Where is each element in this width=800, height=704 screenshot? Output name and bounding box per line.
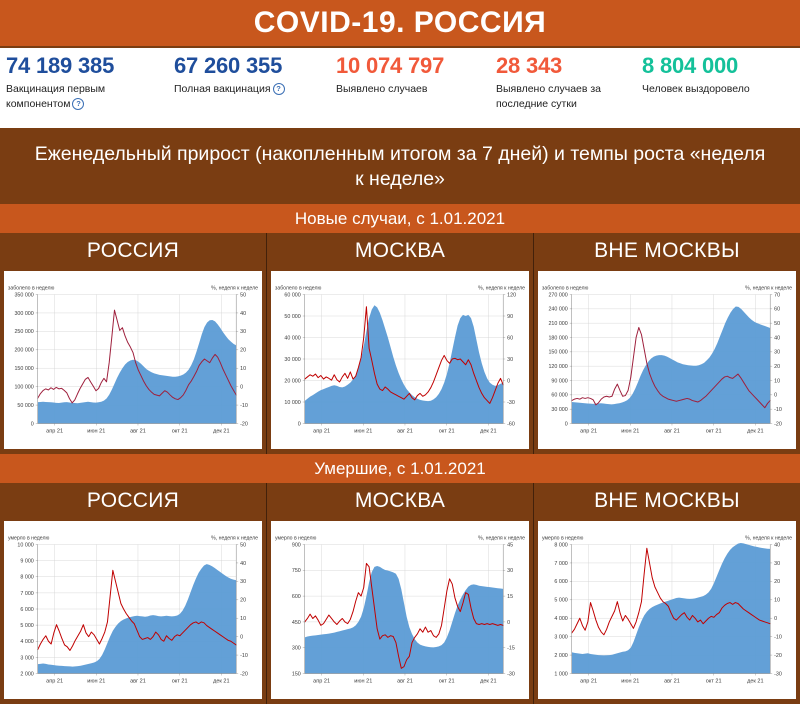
title-banner: COVID-19. РОССИЯ — [0, 0, 800, 46]
svg-text:100 000: 100 000 — [14, 385, 33, 391]
info-icon[interactable]: ? — [273, 83, 285, 95]
svg-text:-20: -20 — [240, 671, 248, 677]
svg-text:0: 0 — [507, 620, 510, 626]
svg-text:750: 750 — [292, 568, 301, 574]
svg-text:%, неделя к неделе: %, неделя к неделе — [478, 286, 525, 292]
svg-text:6 000: 6 000 — [20, 607, 33, 613]
svg-text:-20: -20 — [774, 653, 782, 659]
svg-text:30: 30 — [240, 329, 246, 335]
svg-text:20: 20 — [240, 598, 246, 604]
svg-text:4 000: 4 000 — [554, 616, 567, 622]
svg-text:%, неделя к неделе: %, неделя к неделе — [745, 286, 792, 292]
panel-title: РОССИЯ — [87, 489, 179, 513]
chart-cell: умерло в неделю%, неделя к неделе2 0003 … — [0, 518, 267, 704]
panel-title: МОСКВА — [355, 239, 445, 263]
panel-title: РОССИЯ — [87, 239, 179, 263]
svg-text:4 000: 4 000 — [20, 639, 33, 645]
svg-text:0: 0 — [774, 616, 777, 622]
svg-text:30 000: 30 000 — [551, 407, 567, 413]
stat-label: Выявлено случаев — [336, 82, 490, 96]
svg-text:50 000: 50 000 — [17, 403, 33, 409]
svg-text:-15: -15 — [507, 646, 515, 652]
svg-text:30 000: 30 000 — [284, 357, 300, 363]
svg-text:900: 900 — [292, 542, 301, 548]
stat-value: 8 804 000 — [642, 54, 788, 77]
svg-text:20: 20 — [774, 364, 780, 370]
svg-text:50: 50 — [774, 321, 780, 327]
subtitle-block: Еженедельный прирост (накопленным итогом… — [0, 130, 800, 204]
svg-text:50: 50 — [240, 292, 246, 298]
stat-label: Выявлено случаев за последние сутки — [496, 82, 636, 111]
svg-text:авг 21: авг 21 — [664, 678, 680, 684]
section-bar-deaths: Умершие, с 1.01.2021 — [0, 454, 800, 483]
svg-text:апр 21: апр 21 — [313, 678, 330, 684]
panel-header-moscow: МОСКВА — [267, 233, 534, 268]
svg-text:45: 45 — [507, 542, 513, 548]
stat-card-total-cases: 10 074 797 Выявлено случаев — [336, 54, 496, 97]
svg-text:-30: -30 — [774, 671, 782, 677]
svg-text:-10: -10 — [240, 403, 248, 409]
svg-text:0: 0 — [298, 421, 301, 427]
svg-text:10: 10 — [774, 378, 780, 384]
svg-text:60 000: 60 000 — [284, 292, 300, 298]
svg-text:-10: -10 — [240, 653, 248, 659]
svg-text:20 000: 20 000 — [284, 378, 300, 384]
svg-text:%, неделя к неделе: %, неделя к неделе — [478, 536, 525, 542]
svg-text:авг 21: авг 21 — [130, 678, 146, 684]
svg-text:150 000: 150 000 — [14, 366, 33, 372]
page-title: COVID-19. РОССИЯ — [254, 8, 546, 38]
svg-text:-60: -60 — [507, 421, 515, 427]
svg-text:10: 10 — [240, 616, 246, 622]
charts-row-new-cases: заболело в неделю%, неделя к неделе050 0… — [0, 268, 800, 454]
panel-header-outside-moscow: ВНЕ МОСКВЫ — [534, 483, 800, 518]
svg-text:2 000: 2 000 — [554, 653, 567, 659]
info-icon[interactable]: ? — [72, 98, 84, 110]
svg-text:заболело в неделю: заболело в неделю — [8, 286, 54, 292]
svg-text:апр 21: апр 21 — [46, 678, 63, 684]
svg-text:10 000: 10 000 — [284, 400, 300, 406]
section-label: Новые случаи, с 1.01.2021 — [295, 210, 505, 227]
svg-text:июн 21: июн 21 — [354, 678, 372, 684]
svg-text:-30: -30 — [507, 671, 515, 677]
svg-text:8 000: 8 000 — [554, 542, 567, 548]
svg-text:60: 60 — [507, 335, 513, 341]
svg-text:авг 21: авг 21 — [397, 428, 413, 434]
chart-cell: умерло в неделю%, неделя к неделе1 0002 … — [534, 518, 800, 704]
svg-text:окт 21: окт 21 — [706, 428, 722, 434]
stats-strip: 74 189 385 Вакцинация первым компонентом… — [0, 46, 800, 130]
svg-text:9 000: 9 000 — [20, 559, 33, 565]
panel-title: ВНЕ МОСКВЫ — [594, 489, 740, 513]
svg-text:350 000: 350 000 — [14, 292, 33, 298]
stat-label: Полная вакцинация? — [174, 82, 330, 96]
svg-text:апр 21: апр 21 — [580, 428, 597, 434]
charts-row-deaths: умерло в неделю%, неделя к неделе2 0003 … — [0, 518, 800, 704]
svg-text:умерло в неделю: умерло в неделю — [275, 536, 316, 542]
svg-text:апр 21: апр 21 — [313, 428, 330, 434]
svg-text:2 000: 2 000 — [20, 671, 33, 677]
svg-text:50: 50 — [240, 542, 246, 548]
svg-text:авг 21: авг 21 — [397, 678, 413, 684]
svg-text:120: 120 — [507, 292, 516, 298]
chart-cell: заболело в неделю%, неделя к неделе030 0… — [534, 268, 800, 454]
chart-cases-moscow: заболело в неделю%, неделя к неделе010 0… — [271, 271, 529, 449]
stat-label-text: Вакцинация первым компонентом — [6, 83, 105, 109]
stat-label: Человек выздоровело — [642, 82, 788, 96]
svg-text:заболело в неделю: заболело в неделю — [275, 286, 321, 292]
svg-text:0: 0 — [507, 378, 510, 384]
svg-text:150 000: 150 000 — [548, 350, 567, 356]
stat-card-recovered: 8 804 000 Человек выздоровело — [642, 54, 794, 97]
svg-text:20: 20 — [240, 348, 246, 354]
svg-text:-20: -20 — [240, 421, 248, 427]
svg-text:дек 21: дек 21 — [747, 428, 763, 434]
stat-value: 67 260 355 — [174, 54, 330, 77]
svg-text:20: 20 — [774, 579, 780, 585]
svg-text:-20: -20 — [774, 421, 782, 427]
svg-text:200 000: 200 000 — [14, 348, 33, 354]
svg-text:150: 150 — [292, 671, 301, 677]
stat-value: 74 189 385 — [6, 54, 168, 77]
stat-value: 10 074 797 — [336, 54, 490, 77]
panel-header-moscow: МОСКВА — [267, 483, 534, 518]
svg-text:10: 10 — [240, 366, 246, 372]
svg-text:июн 21: июн 21 — [621, 428, 639, 434]
svg-text:90: 90 — [507, 314, 513, 320]
svg-text:7 000: 7 000 — [554, 561, 567, 567]
svg-text:50 000: 50 000 — [284, 314, 300, 320]
stat-label-text: Полная вакцинация — [174, 83, 271, 95]
svg-text:дек 21: дек 21 — [213, 428, 229, 434]
svg-text:40 000: 40 000 — [284, 335, 300, 341]
stat-label: Вакцинация первым компонентом? — [6, 82, 168, 111]
svg-text:180 000: 180 000 — [548, 335, 567, 341]
svg-text:40: 40 — [774, 335, 780, 341]
svg-text:апр 21: апр 21 — [46, 428, 63, 434]
svg-text:15: 15 — [507, 594, 513, 600]
svg-text:10: 10 — [774, 598, 780, 604]
svg-text:240 000: 240 000 — [548, 307, 567, 313]
svg-text:умерло в неделю: умерло в неделю — [8, 536, 49, 542]
svg-text:заболело в неделю: заболело в неделю — [542, 286, 588, 292]
svg-text:дек 21: дек 21 — [213, 678, 229, 684]
panel-title: МОСКВА — [355, 489, 445, 513]
svg-text:60 000: 60 000 — [551, 393, 567, 399]
svg-text:июн 21: июн 21 — [87, 678, 105, 684]
stat-card-vaccinated-first: 74 189 385 Вакцинация первым компонентом… — [6, 54, 174, 111]
svg-text:120 000: 120 000 — [548, 364, 567, 370]
svg-text:окт 21: окт 21 — [172, 678, 188, 684]
svg-text:окт 21: окт 21 — [439, 428, 455, 434]
panel-header-row-deaths: РОССИЯ МОСКВА ВНЕ МОСКВЫ — [0, 483, 800, 518]
svg-text:-10: -10 — [774, 635, 782, 641]
svg-text:30: 30 — [774, 561, 780, 567]
chart-deaths-russia: умерло в неделю%, неделя к неделе2 0003 … — [4, 521, 262, 699]
stat-value: 28 343 — [496, 54, 636, 77]
panel-header-row-new-cases: РОССИЯ МОСКВА ВНЕ МОСКВЫ — [0, 233, 800, 268]
svg-text:умерло в неделю: умерло в неделю — [542, 536, 583, 542]
panel-header-outside-moscow: ВНЕ МОСКВЫ — [534, 233, 800, 268]
svg-text:%, неделя к неделе: %, неделя к неделе — [745, 536, 792, 542]
svg-text:июн 21: июн 21 — [354, 428, 372, 434]
svg-text:июн 21: июн 21 — [87, 428, 105, 434]
svg-text:0: 0 — [240, 385, 243, 391]
svg-text:210 000: 210 000 — [548, 321, 567, 327]
svg-text:-10: -10 — [774, 407, 782, 413]
svg-text:40: 40 — [240, 561, 246, 567]
svg-text:апр 21: апр 21 — [580, 678, 597, 684]
svg-text:10 000: 10 000 — [17, 542, 33, 548]
svg-text:5 000: 5 000 — [20, 623, 33, 629]
svg-text:0: 0 — [774, 393, 777, 399]
svg-text:дек 21: дек 21 — [480, 428, 496, 434]
stat-card-cases-last-day: 28 343 Выявлено случаев за последние сут… — [496, 54, 642, 111]
panel-title: ВНЕ МОСКВЫ — [594, 239, 740, 263]
svg-text:40: 40 — [774, 542, 780, 548]
svg-text:300 000: 300 000 — [14, 311, 33, 317]
svg-text:авг 21: авг 21 — [130, 428, 146, 434]
svg-text:5 000: 5 000 — [554, 598, 567, 604]
svg-text:3 000: 3 000 — [554, 635, 567, 641]
svg-text:дек 21: дек 21 — [747, 678, 763, 684]
svg-text:60: 60 — [774, 307, 780, 313]
svg-text:-30: -30 — [507, 400, 515, 406]
chart-deaths-moscow: умерло в неделю%, неделя к неделе1503004… — [271, 521, 529, 699]
svg-text:30: 30 — [507, 568, 513, 574]
chart-cell: заболело в неделю%, неделя к неделе010 0… — [267, 268, 534, 454]
stat-card-fully-vaccinated: 67 260 355 Полная вакцинация? — [174, 54, 336, 97]
covid-dashboard: COVID-19. РОССИЯ 74 189 385 Вакцинация п… — [0, 0, 800, 704]
svg-text:300: 300 — [292, 646, 301, 652]
chart-cases-russia: заболело в неделю%, неделя к неделе050 0… — [4, 271, 262, 449]
subtitle-text: Еженедельный прирост (накопленным итогом… — [34, 142, 766, 192]
svg-text:30: 30 — [240, 579, 246, 585]
chart-deaths-outside-moscow: умерло в неделю%, неделя к неделе1 0002 … — [538, 521, 796, 699]
panel-header-russia: РОССИЯ — [0, 483, 267, 518]
svg-text:40: 40 — [240, 311, 246, 317]
svg-text:6 000: 6 000 — [554, 579, 567, 585]
svg-text:3 000: 3 000 — [20, 655, 33, 661]
svg-text:90 000: 90 000 — [551, 378, 567, 384]
svg-text:30: 30 — [774, 350, 780, 356]
svg-text:270 000: 270 000 — [548, 292, 567, 298]
svg-text:30: 30 — [507, 357, 513, 363]
svg-text:450: 450 — [292, 620, 301, 626]
svg-text:0: 0 — [240, 635, 243, 641]
svg-text:окт 21: окт 21 — [706, 678, 722, 684]
svg-text:окт 21: окт 21 — [439, 678, 455, 684]
chart-cell: заболело в неделю%, неделя к неделе050 0… — [0, 268, 267, 454]
svg-text:%, неделя к неделе: %, неделя к неделе — [211, 286, 258, 292]
svg-text:дек 21: дек 21 — [480, 678, 496, 684]
chart-cell: умерло в неделю%, неделя к неделе1503004… — [267, 518, 534, 704]
svg-text:8 000: 8 000 — [20, 575, 33, 581]
svg-text:0: 0 — [565, 421, 568, 427]
svg-text:1 000: 1 000 — [554, 671, 567, 677]
svg-text:авг 21: авг 21 — [664, 428, 680, 434]
svg-text:600: 600 — [292, 594, 301, 600]
section-bar-new-cases: Новые случаи, с 1.01.2021 — [0, 204, 800, 233]
svg-text:окт 21: окт 21 — [172, 428, 188, 434]
svg-text:70: 70 — [774, 292, 780, 298]
svg-text:7 000: 7 000 — [20, 591, 33, 597]
svg-text:250 000: 250 000 — [14, 329, 33, 335]
chart-cases-outside-moscow: заболело в неделю%, неделя к неделе030 0… — [538, 271, 796, 449]
svg-text:0: 0 — [31, 421, 34, 427]
section-label: Умершие, с 1.01.2021 — [314, 460, 486, 477]
panel-header-russia: РОССИЯ — [0, 233, 267, 268]
svg-text:%, неделя к неделе: %, неделя к неделе — [211, 536, 258, 542]
svg-text:июн 21: июн 21 — [621, 678, 639, 684]
